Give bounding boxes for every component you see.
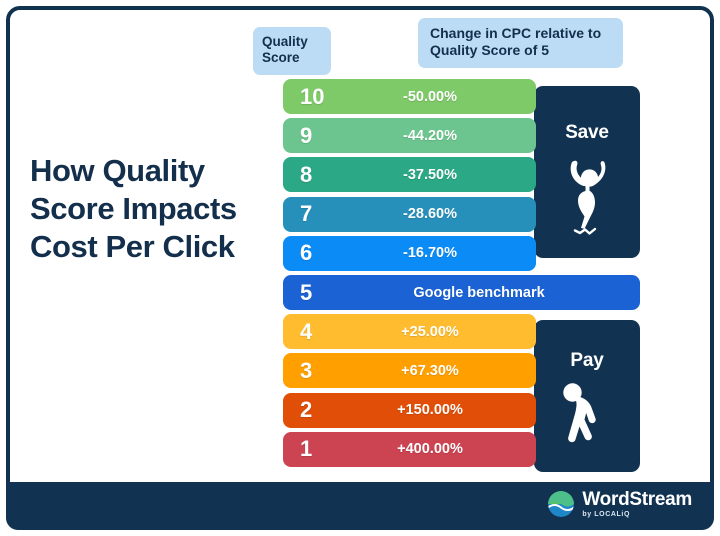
slumped-person-icon: [534, 378, 640, 448]
save-panel: Save: [534, 86, 640, 258]
bar-score-label: 2: [300, 397, 340, 423]
pay-panel: Pay: [534, 320, 640, 472]
bar-value-label: +400.00%: [340, 441, 536, 457]
bar-row-10: 10-50.00%: [283, 79, 536, 114]
wordstream-circle-wave-logo: [548, 491, 574, 517]
save-panel-label: Save: [534, 122, 640, 144]
footer-bar: WordStream by LOCALiQ: [6, 482, 714, 530]
bar-row-7: 7-28.60%: [283, 197, 536, 232]
jumping-person-icon: [534, 152, 640, 236]
bar-score-label: 7: [300, 201, 340, 227]
bar-row-2: 2+150.00%: [283, 393, 536, 428]
bar-score-label: 8: [300, 162, 340, 188]
bar-value-label: -37.50%: [340, 167, 536, 183]
bar-value-label: Google benchmark: [340, 285, 640, 301]
brand-byline: by LOCALiQ: [582, 511, 692, 518]
bar-value-label: -16.70%: [340, 245, 536, 261]
bar-value-label: -44.20%: [340, 128, 536, 144]
bar-row-5: 5Google benchmark: [283, 275, 640, 310]
bar-value-label: +25.00%: [340, 324, 536, 340]
change-cpc-header-badge: Change in CPC relative to Quality Score …: [418, 18, 623, 68]
bar-row-3: 3+67.30%: [283, 353, 536, 388]
brand-name: WordStream: [582, 490, 692, 509]
bar-score-label: 5: [300, 280, 340, 306]
quality-score-header-badge: Quality Score: [253, 27, 331, 75]
bar-row-1: 1+400.00%: [283, 432, 536, 467]
infographic-canvas: Save Pay Quality Score Change in CPC rel…: [0, 0, 720, 536]
page-title: How Quality Score Impacts Cost Per Click: [30, 152, 280, 265]
bar-row-4: 4+25.00%: [283, 314, 536, 349]
wordstream-logo[interactable]: WordStream by LOCALiQ: [548, 490, 692, 518]
bar-score-label: 4: [300, 319, 340, 345]
bar-score-label: 6: [300, 240, 340, 266]
bar-score-label: 1: [300, 436, 340, 462]
bar-value-label: -28.60%: [340, 206, 536, 222]
bar-value-label: -50.00%: [340, 89, 536, 105]
bar-value-label: +67.30%: [340, 363, 536, 379]
bar-row-6: 6-16.70%: [283, 236, 536, 271]
bar-row-8: 8-37.50%: [283, 157, 536, 192]
pay-panel-label: Pay: [534, 350, 640, 372]
bar-score-label: 9: [300, 123, 340, 149]
bar-row-9: 9-44.20%: [283, 118, 536, 153]
bar-score-label: 3: [300, 358, 340, 384]
bar-value-label: +150.00%: [340, 402, 536, 418]
bar-score-label: 10: [300, 84, 340, 110]
